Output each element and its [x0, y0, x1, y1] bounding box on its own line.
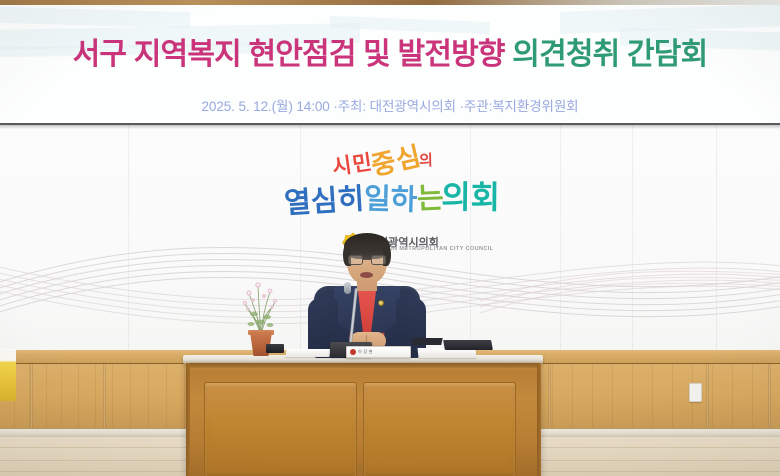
- lens-left: [348, 255, 363, 265]
- slogan-word-uihoe: 의회: [441, 172, 500, 219]
- desk-object-dark-mid: [411, 338, 442, 345]
- wall-outlet: [689, 383, 702, 402]
- banner-title: 서구 지역복지 현안점검 및 발전방향 의견청취 간담회: [0, 35, 780, 75]
- podium-side-left: [186, 363, 190, 476]
- microphone-head: [344, 282, 351, 294]
- podium-recessed-panel-left: [204, 382, 357, 476]
- wainscot-panel-seam: [30, 364, 33, 430]
- wainscot-panel-seam: [706, 364, 709, 430]
- nameplate-name: 이 강 현: [358, 349, 373, 355]
- desk-object-dark-right: [443, 340, 493, 350]
- slogan-word-yeolsimhi: 열심히: [283, 175, 365, 222]
- left-edge-object: [0, 349, 16, 401]
- conference-room-photo: 서구 지역복지 현안점검 및 발전방향 의견청취 간담회 2025. 5. 12…: [0, 0, 780, 476]
- glasses-bridge: [363, 259, 371, 260]
- nameplate-emblem-icon: [350, 349, 356, 355]
- podium-top-edge: [186, 363, 541, 368]
- banner-title-accent: 의견청취 간담회: [512, 38, 707, 71]
- desk-paper-left: [285, 349, 330, 357]
- banner-subtitle: 2025. 5. 12.(월) 14:00 ·주최: 대전광역시의회 ·주관:복…: [0, 95, 780, 115]
- mouth: [360, 272, 373, 278]
- slogan-word-ui: 의: [419, 149, 434, 170]
- plant-foliage: [238, 276, 284, 338]
- eyeglasses: [348, 255, 386, 265]
- banner-facet-shape: [0, 6, 190, 28]
- desk-nameplate: 이 강 현: [346, 346, 411, 358]
- slogan-word-ilha: 일하: [364, 175, 418, 218]
- event-banner: 서구 지역복지 현안점검 및 발전방향 의견청취 간담회 2025. 5. 12…: [0, 5, 780, 125]
- wainscot-panel-seam: [768, 364, 771, 430]
- lens-right: [371, 255, 386, 265]
- wainscot-panel-seam: [548, 364, 551, 430]
- desk-object-dark-left: [266, 344, 284, 353]
- wainscot-panel-seam: [103, 364, 106, 430]
- lapel-pin: [378, 300, 384, 306]
- podium-recessed-panel-right: [363, 382, 516, 476]
- speaker-person: [300, 236, 430, 358]
- podium-side-right: [537, 363, 541, 476]
- slogan-line-2: 열심히일하는의회: [283, 173, 498, 221]
- banner-title-primary: 서구 지역복지 현안점검 및 발전방향: [73, 38, 513, 71]
